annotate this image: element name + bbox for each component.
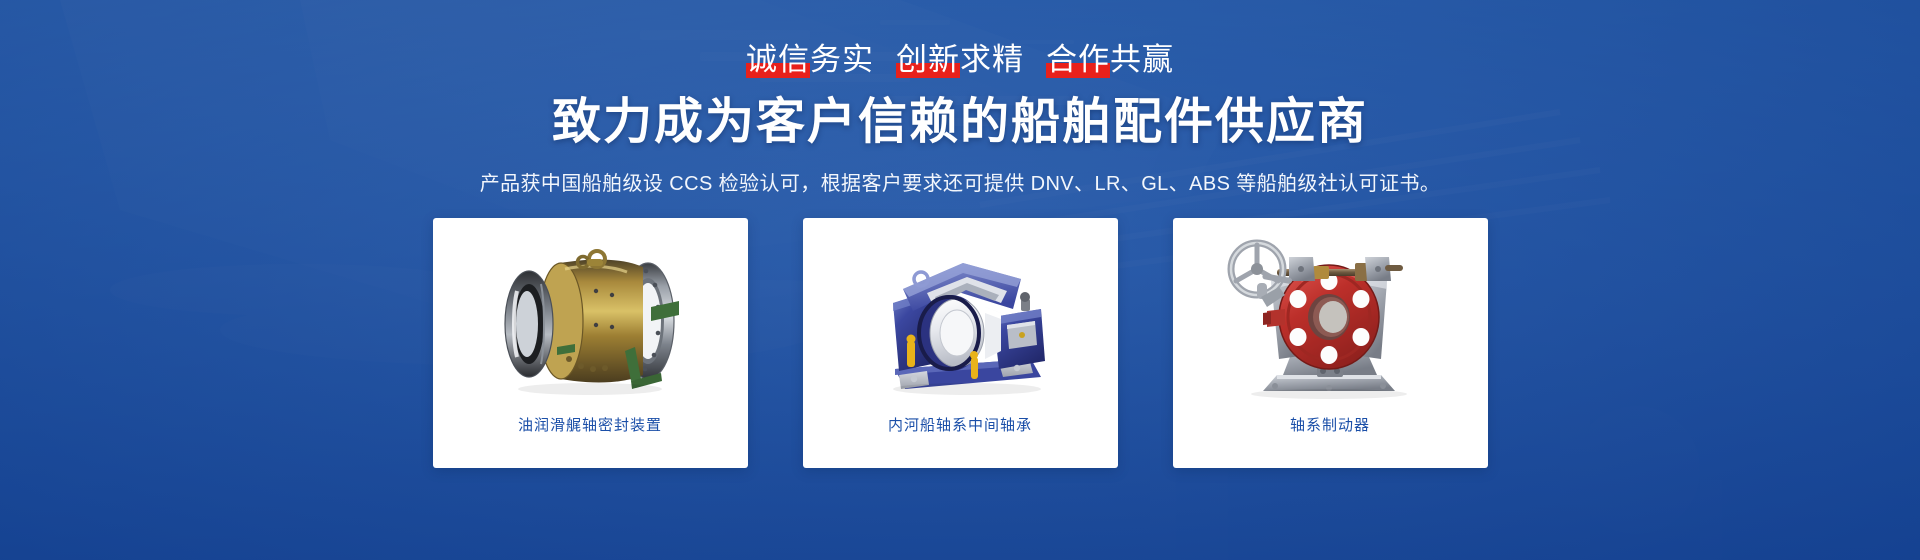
shaft-brake-photo xyxy=(1190,224,1470,412)
oil-lubricated-stern-shaft-seal-photo xyxy=(450,224,730,412)
product-card[interactable]: 轴系制动器 xyxy=(1173,218,1488,468)
banner-content: 诚信务实 创新求精 合作共赢 致力成为客户信赖的船舶配件供应商 产品获中国船舶级… xyxy=(0,0,1920,560)
banner-headline: 致力成为客户信赖的船舶配件供应商 xyxy=(552,95,1368,150)
product-card-label: 油润滑艉轴密封装置 xyxy=(518,414,662,435)
tagline-group-3-text: 合作共赢 xyxy=(1046,42,1174,77)
tagline-group-2-text: 创新求精 xyxy=(896,42,1024,77)
product-card-list: 油润滑艉轴密封装置 xyxy=(433,218,1488,468)
tagline-group-2: 创新求精 xyxy=(896,44,1024,75)
product-card[interactable]: 油润滑艉轴密封装置 xyxy=(433,218,748,468)
tagline-group-1-text: 诚信务实 xyxy=(746,42,874,77)
inland-vessel-intermediate-bearing-photo xyxy=(820,224,1100,412)
tagline-group-1: 诚信务实 xyxy=(746,44,874,75)
promotional-banner: 诚信务实 创新求精 合作共赢 致力成为客户信赖的船舶配件供应商 产品获中国船舶级… xyxy=(0,0,1920,560)
product-card-label: 轴系制动器 xyxy=(1290,414,1370,435)
tagline-group-3: 合作共赢 xyxy=(1046,44,1174,75)
banner-tagline: 诚信务实 创新求精 合作共赢 xyxy=(746,44,1174,75)
product-card-label: 内河船轴系中间轴承 xyxy=(888,414,1032,435)
product-card[interactable]: 内河船轴系中间轴承 xyxy=(803,218,1118,468)
banner-subtitle: 产品获中国船舶级设 CCS 检验认可，根据客户要求还可提供 DNV、LR、GL、… xyxy=(480,167,1441,196)
